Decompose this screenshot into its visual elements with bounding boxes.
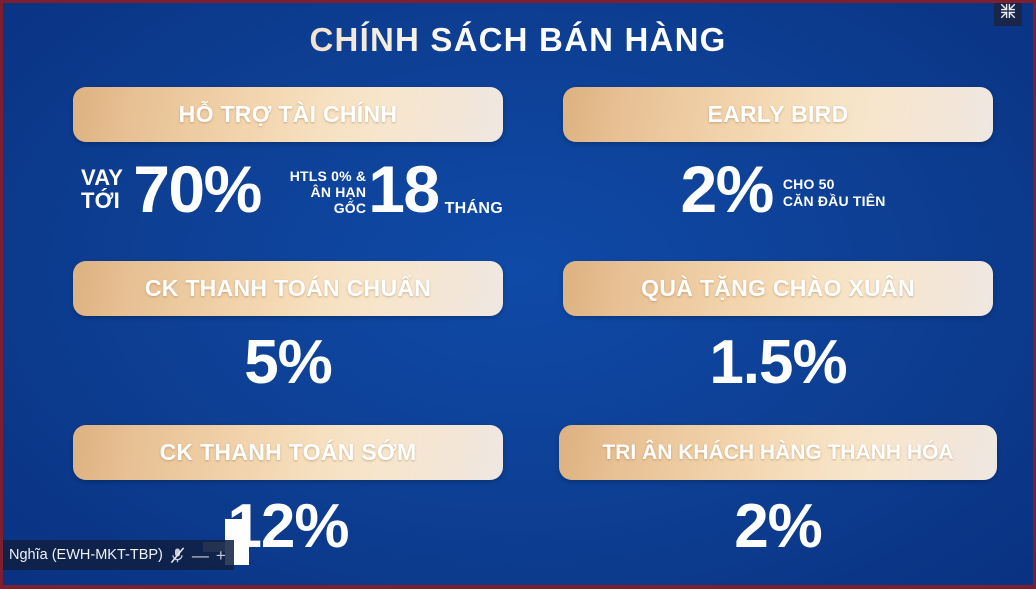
policy-column-right: EARLY BIRD 2% CHO 50 CĂN ĐẦU TIÊN QUÀ TẶ… [563,3,993,585]
policy-block-early-bird: EARLY BIRD 2% CHO 50 CĂN ĐẦU TIÊN [563,87,993,228]
loan-months-unit: THÁNG [445,200,503,228]
policy-pill-financial-support[interactable]: HỖ TRỢ TÀI CHÍNH [73,87,503,142]
policy-column-left: HỖ TRỢ TÀI CHÍNH VAY TỚI 70% HTLS 0% & Â… [73,3,503,585]
spring-gift-discount-value: 1.5% [709,332,846,394]
policy-pill-label: HỖ TRỢ TÀI CHÍNH [179,101,398,128]
microphone-muted-icon[interactable] [170,547,185,564]
policy-block-financial-support: HỖ TRỢ TÀI CHÍNH VAY TỚI 70% HTLS 0% & Â… [73,87,503,228]
policy-block-spring-gift: QUÀ TẶNG CHÀO XUÂN 1.5% [563,261,993,402]
loan-percentage-value: 70% [133,156,261,222]
policy-pill-label: EARLY BIRD [707,101,848,128]
policy-pill-label: TRI ÂN KHÁCH HÀNG THANH HÓA [602,441,953,465]
policy-value-financial-support: VAY TỚI 70% HTLS 0% & ÂN HẠN GỐC 18 THÁN… [73,150,503,228]
window-frame-top [0,0,1036,3]
policy-pill-thanh-hoa-loyalty[interactable]: TRI ÂN KHÁCH HÀNG THANH HÓA [559,425,997,480]
loan-months-value: 18 [368,156,438,222]
policy-value-thanh-hoa-loyalty: 2% [563,488,993,566]
early-bird-discount-value: 2% [680,156,772,222]
loan-prefix-label: VAY TỚI [81,166,123,212]
policy-value-spring-gift: 1.5% [563,324,993,402]
policy-value-standard-payment: 5% [73,324,503,402]
window-frame-bottom [0,585,1036,589]
policy-pill-label: CK THANH TOÁN CHUẨN [145,275,431,302]
policy-pill-label: QUÀ TẶNG CHÀO XUÂN [641,275,915,302]
policy-block-standard-payment: CK THANH TOÁN CHUẨN 5% [73,261,503,402]
policy-pill-label: CK THANH TOÁN SỚM [160,439,417,466]
loan-interest-note: HTLS 0% & ÂN HẠN GỐC [277,162,366,216]
participant-name-bar: Nghĩa (EWH-MKT-TBP) — + [3,540,234,570]
policy-pill-early-payment[interactable]: CK THANH TOÁN SỚM [73,425,503,480]
policy-pill-early-bird[interactable]: EARLY BIRD [563,87,993,142]
policy-value-early-bird: 2% CHO 50 CĂN ĐẦU TIÊN [563,150,993,228]
policy-pill-spring-gift[interactable]: QUÀ TẶNG CHÀO XUÂN [563,261,993,316]
slide-canvas: CHÍNH SÁCH BÁN HÀNG HỖ TRỢ TÀI CHÍNH VAY… [3,3,1033,585]
early-bird-note: CHO 50 CĂN ĐẦU TIÊN [783,168,886,210]
exit-fullscreen-icon [1000,3,1016,24]
participant-name-label: Nghĩa (EWH-MKT-TBP) [9,547,163,563]
zoom-in-button[interactable]: + [216,547,226,564]
standard-payment-discount-value: 5% [244,332,332,394]
window-frame-left [0,0,3,589]
policy-block-thanh-hoa-loyalty: TRI ÂN KHÁCH HÀNG THANH HÓA 2% [563,425,993,566]
thanh-hoa-loyalty-discount-value: 2% [734,496,822,558]
exit-fullscreen-button[interactable] [994,0,1022,26]
presentation-screen: CHÍNH SÁCH BÁN HÀNG HỖ TRỢ TÀI CHÍNH VAY… [0,0,1036,589]
zoom-out-button[interactable]: — [192,547,209,564]
policy-pill-standard-payment[interactable]: CK THANH TOÁN CHUẨN [73,261,503,316]
